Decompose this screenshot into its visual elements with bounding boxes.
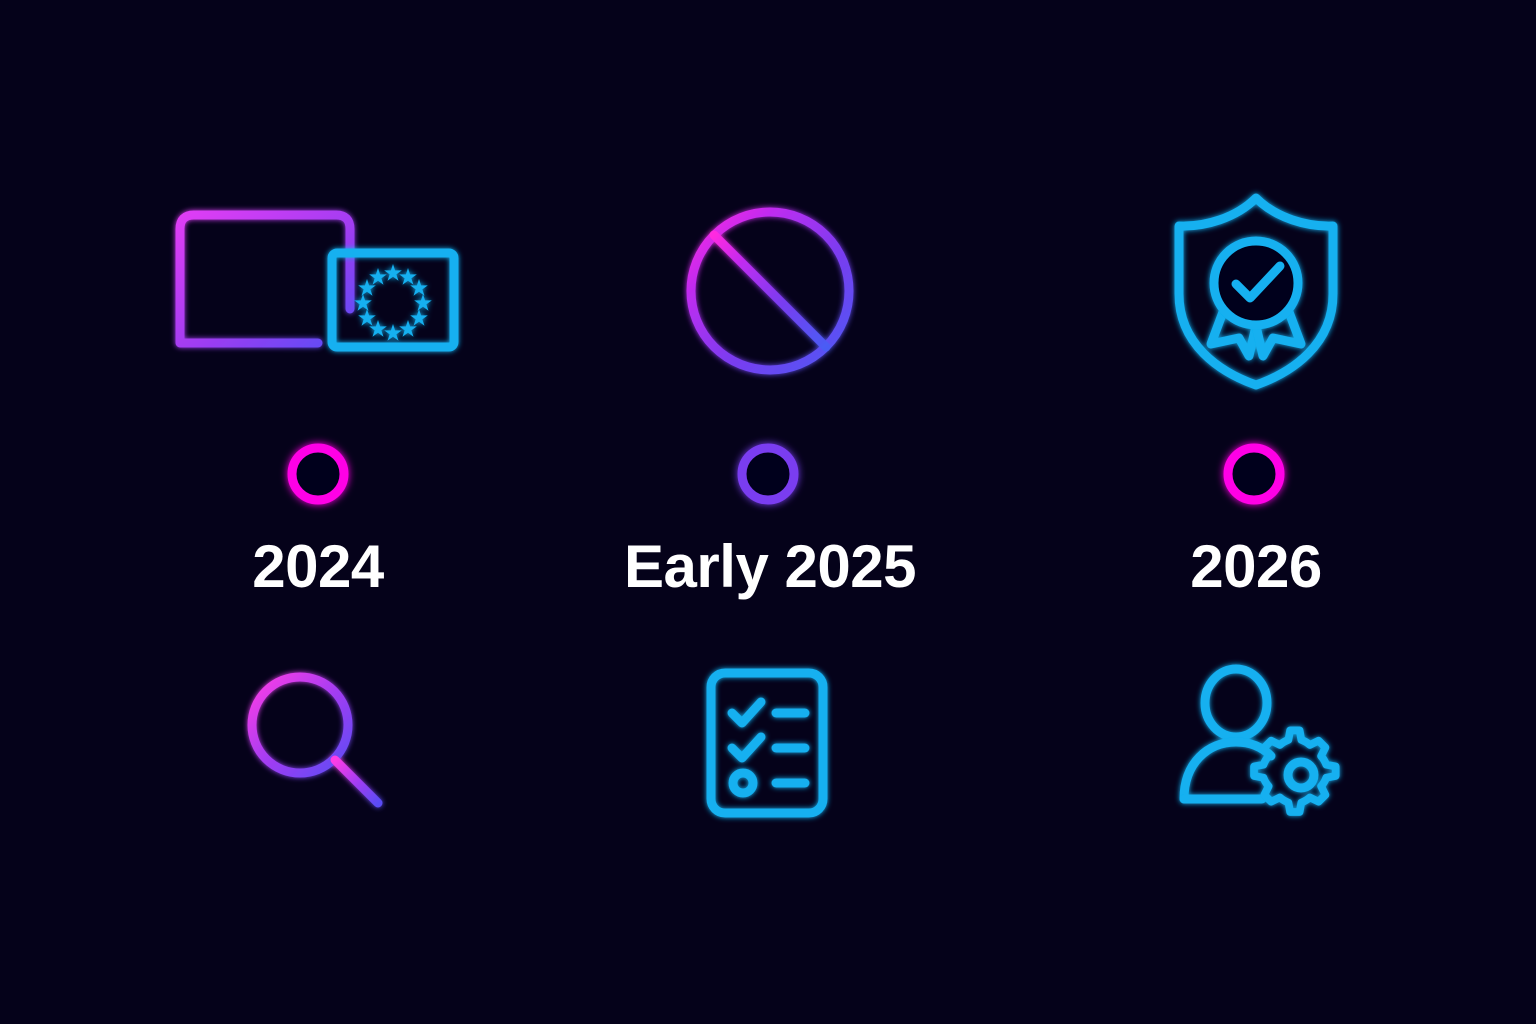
timeline-node-early-2025[interactable] [742, 448, 794, 500]
timeline-node-2024[interactable] [292, 448, 344, 500]
timeline-axis [0, 430, 1536, 540]
checklist-document-icon [550, 655, 990, 830]
eu-flag-icon [332, 253, 454, 347]
milestone-label-2026: 2026 [1036, 532, 1476, 602]
magnifying-glass-icon [98, 655, 538, 830]
calendar-eu-flag-icon [98, 176, 538, 406]
prohibition-ban-icon [550, 176, 990, 406]
timeline-node-2026[interactable] [1228, 448, 1280, 500]
user-settings-gear-icon [1036, 655, 1476, 830]
shield-certified-badge-icon [1036, 176, 1476, 406]
milestone-label-2024: 2024 [98, 532, 538, 602]
timeline-infographic: 2024 [0, 0, 1536, 1024]
milestone-label-early-2025: Early 2025 [550, 532, 990, 602]
